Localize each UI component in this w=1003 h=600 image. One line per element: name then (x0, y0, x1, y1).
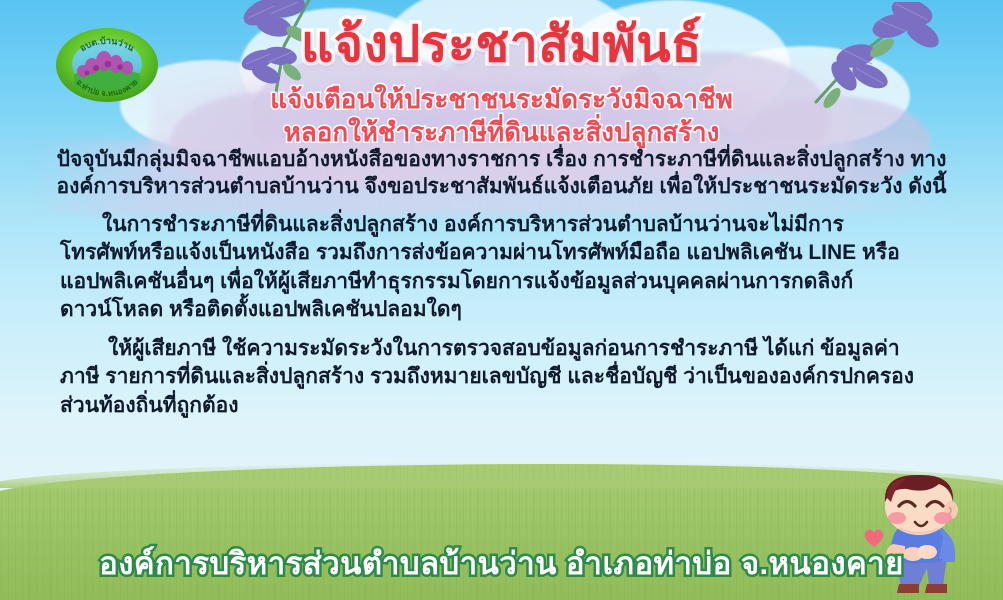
subtitle-line-2: หลอกให้ชำระภาษีที่ดินและสิ่งปลูกสร้าง (0, 116, 1003, 149)
page-title: แจ้งประชาสัมพันธ์ (0, 18, 1003, 71)
paragraph-2: ในการชำระภาษีที่ดินและสิ่งปลูกสร้าง องค์… (24, 211, 979, 325)
announcement-poster: อบต.บ้านว่าน อ.ท่าบ่อ จ.หนองคาย (0, 0, 1003, 600)
subtitle-line-1: แจ้งเตือนให้ประชาชนระมัดระวังมิจฉาชีพ (0, 83, 1003, 116)
page-subtitle: แจ้งเตือนให้ประชาชนระมัดระวังมิจฉาชีพ หล… (0, 83, 1003, 150)
announcement-body: ปัจจุบันมีกลุ่มมิจฉาชีพแอบอ้างหนังสือของ… (24, 146, 979, 430)
footer-organization: องค์การบริหารส่วนตำบลบ้านว่าน อำเภอท่าบ่… (0, 538, 1003, 588)
paragraph-3: ให้ผู้เสียภาษี ใช้ความระมัดระวังในการตรว… (24, 335, 979, 421)
paragraph-1: ปัจจุบันมีกลุ่มมิจฉาชีพแอบอ้างหนังสือของ… (24, 146, 979, 201)
